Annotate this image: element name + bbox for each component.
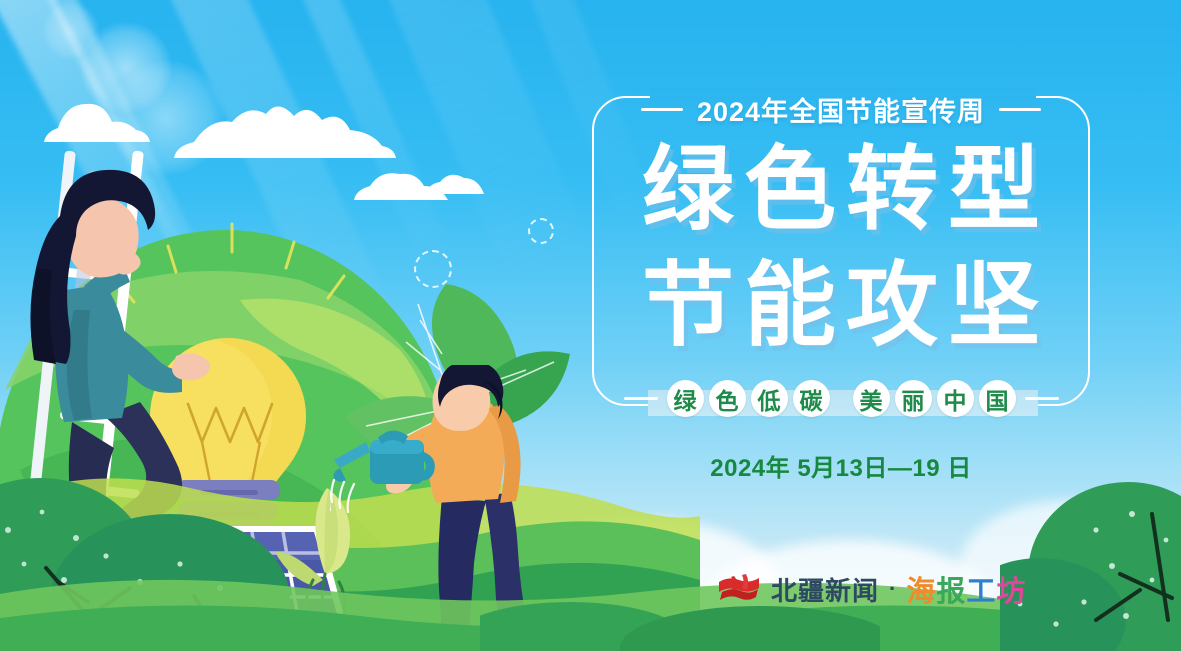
cloud-shape — [424, 170, 494, 196]
decor-dashed-circle — [528, 218, 554, 244]
illustration-left — [0, 150, 560, 651]
sun-ray — [10, 0, 244, 351]
subtitle-char: 国 — [979, 380, 1016, 417]
potted-plant — [255, 470, 395, 651]
soft-cloud — [330, 560, 550, 651]
subtitle-char: 低 — [751, 380, 788, 417]
cloud-shape — [352, 168, 472, 202]
poster-canvas: 2024年全国节能宣传周 绿色转型 节能攻坚 绿 色 低 碳 美 丽 中 国 2… — [0, 0, 1181, 651]
subtitle-char: 美 — [853, 380, 890, 417]
sun-ray — [120, 0, 403, 361]
subtitle-char: 绿 — [667, 380, 704, 417]
eyebrow-rule-left — [641, 108, 683, 111]
watering-can — [330, 418, 450, 528]
bush-cluster-left — [0, 460, 300, 651]
lens-flare — [108, 60, 224, 176]
subtitle-char: 中 — [937, 380, 974, 417]
poster-title-line-1: 绿色转型 — [592, 144, 1090, 236]
cloud-shape — [170, 98, 410, 162]
subtitle-char: 色 — [709, 380, 746, 417]
lens-flare — [42, 2, 100, 60]
brand-name: 北疆新闻 — [771, 571, 879, 608]
logo-separator: · — [889, 576, 896, 602]
subtitle-char: 丽 — [895, 380, 932, 417]
eyebrow-rule-right — [999, 108, 1041, 111]
lens-flare — [80, 22, 172, 114]
studio-char: 报 — [936, 568, 966, 610]
figure-woman — [30, 170, 210, 604]
cloud-shape — [44, 92, 174, 144]
sun-ray — [0, 0, 207, 311]
figure-man — [380, 365, 560, 651]
studio-char: 工 — [966, 568, 996, 610]
studio-char: 海 — [906, 568, 936, 610]
solar-panel — [150, 520, 350, 651]
subtitle-row: 绿 色 低 碳 美 丽 中 国 — [592, 380, 1090, 417]
publisher-logo: 北疆新闻 · 海 报 工 坊 — [716, 568, 1026, 610]
flag-emblem-icon — [716, 574, 762, 604]
eyebrow-banner: 2024年全国节能宣传周 — [592, 90, 1090, 129]
sun-ray — [330, 0, 596, 293]
poster-title-line-2: 节能攻坚 — [592, 260, 1090, 352]
date-range-text: 2024年 5月13日—19 日 — [592, 448, 1090, 483]
subtitle-group-1: 绿 色 低 碳 — [667, 380, 830, 417]
eyebrow-text: 2024年全国节能宣传周 — [697, 90, 985, 129]
subtitle-rule-right — [1025, 397, 1059, 400]
studio-char: 坊 — [996, 568, 1026, 610]
sun-ray — [250, 0, 456, 273]
studio-name: 海 报 工 坊 — [906, 568, 1026, 610]
subtitle-group-2: 美 丽 中 国 — [853, 380, 1016, 417]
subtitle-rule-left — [624, 397, 658, 400]
leaf-cluster — [330, 250, 590, 510]
subtitle-char: 碳 — [793, 380, 830, 417]
decor-dashed-circle — [414, 250, 452, 288]
bush-cluster-right — [1000, 470, 1181, 651]
